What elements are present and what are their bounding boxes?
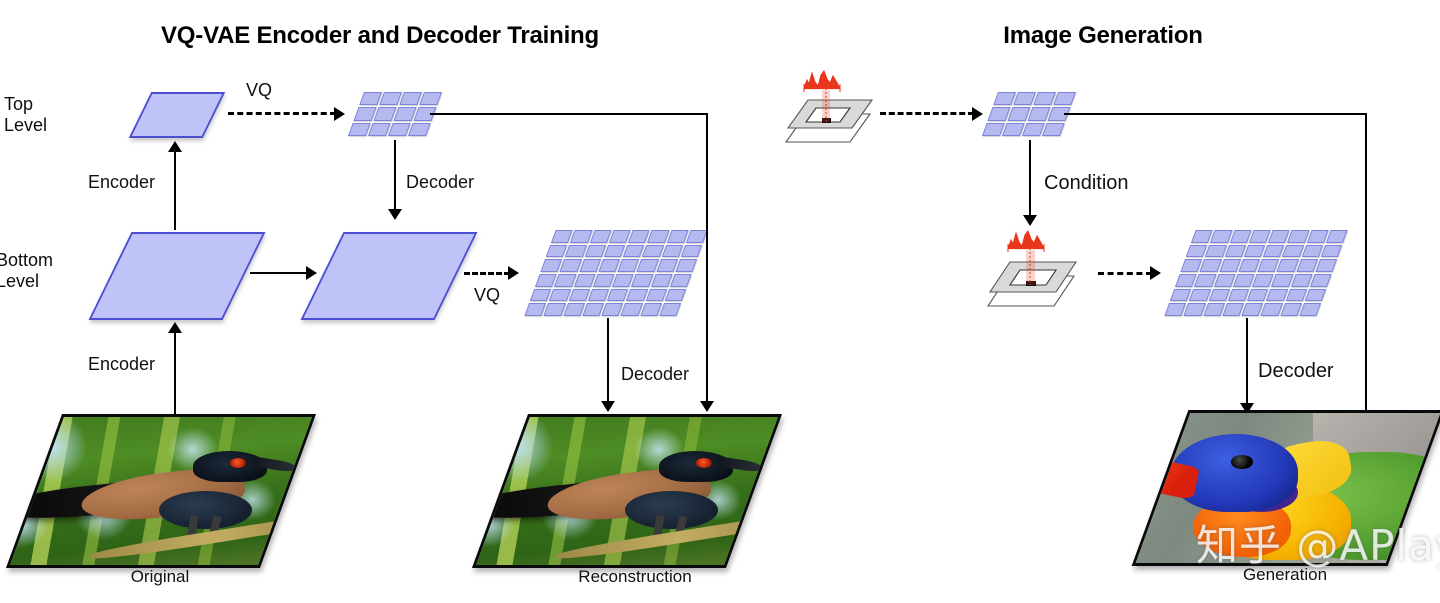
code-cell <box>408 123 431 136</box>
code-cell <box>1191 230 1213 243</box>
top-encoder-feature-plane <box>129 92 225 138</box>
code-cell <box>544 303 566 316</box>
bottom-level-label-line2: Level <box>0 271 53 292</box>
code-cell <box>1252 274 1274 287</box>
gen-decoder-arrow-shaft <box>1246 318 1248 406</box>
code-cell <box>1266 289 1288 302</box>
bottom-encoder-label: Encoder <box>88 354 155 375</box>
code-cell <box>1200 259 1222 272</box>
code-cell <box>1203 303 1225 316</box>
code-cell <box>1210 230 1232 243</box>
code-cell <box>621 303 643 316</box>
code-cell <box>1053 92 1076 105</box>
code-cell <box>1287 230 1309 243</box>
bottom-plane-link-arrow-shaft <box>250 272 308 274</box>
code-cell <box>1268 230 1290 243</box>
code-cell <box>1304 289 1326 302</box>
code-cell <box>623 245 645 258</box>
code-cell <box>582 303 604 316</box>
vq-top-dashed-arrow-shaft <box>228 112 336 115</box>
bottom-level-code-grid <box>524 230 707 316</box>
code-cell <box>1299 303 1321 316</box>
code-cell <box>1238 259 1260 272</box>
code-cell <box>574 274 596 287</box>
bottom-encoder-arrow-head <box>168 322 182 333</box>
decoder-top-arrow-shaft <box>394 140 396 212</box>
code-cell <box>631 274 653 287</box>
left-panel-title: VQ-VAE Encoder and Decoder Training <box>155 22 605 50</box>
code-cell <box>579 259 601 272</box>
code-cell <box>1296 259 1318 272</box>
decoder-bottom-arrow-shaft <box>607 318 609 404</box>
code-cell <box>563 303 585 316</box>
code-cell <box>540 259 562 272</box>
top-code-skip-arrow-head <box>700 401 714 412</box>
code-cell <box>1285 289 1307 302</box>
gen-skip-line-horizontal <box>1064 113 1367 115</box>
code-cell <box>593 274 615 287</box>
bottom-decoder-feature-plane <box>301 232 478 320</box>
code-cell <box>1180 259 1202 272</box>
top-encoder-label: Encoder <box>88 172 155 193</box>
code-cell <box>1219 259 1241 272</box>
code-cell <box>1301 245 1323 258</box>
reconstruction-image-content <box>472 417 782 565</box>
code-cell <box>1277 259 1299 272</box>
code-cell <box>546 245 568 258</box>
code-cell <box>1243 245 1265 258</box>
gen-top-level-code-grid <box>982 92 1076 136</box>
code-cell <box>626 289 648 302</box>
code-cell <box>659 303 681 316</box>
code-cell <box>1184 303 1206 316</box>
decoder-top-label: Decoder <box>406 172 474 193</box>
right-panel-title: Image Generation <box>903 22 1303 50</box>
code-cell <box>1189 289 1211 302</box>
top-level-code-grid <box>348 92 442 136</box>
bottom-level-label: Bottom Level <box>0 250 53 292</box>
generation-image-content <box>1132 413 1440 563</box>
code-cell <box>603 245 625 258</box>
gen-decoder-label: Decoder <box>1258 360 1334 383</box>
code-cell <box>680 245 702 258</box>
code-cell <box>1230 230 1252 243</box>
code-cell <box>675 259 697 272</box>
condition-label: Condition <box>1044 172 1129 195</box>
code-cell <box>607 289 629 302</box>
gen-skip-line-vertical <box>1365 113 1367 413</box>
code-cell <box>524 303 546 316</box>
top-level-label-line1: Top <box>4 94 47 115</box>
code-cell <box>530 289 552 302</box>
code-cell <box>1227 289 1249 302</box>
code-cell <box>1320 245 1342 258</box>
generation-caption: Generation <box>1140 565 1430 585</box>
code-cell <box>656 259 678 272</box>
code-cell <box>1257 259 1279 272</box>
gen-bottom-dashed-arrow-shaft <box>1098 272 1152 275</box>
code-cell <box>1222 303 1244 316</box>
original-caption: Original <box>40 567 280 587</box>
generation-image <box>1132 410 1440 566</box>
code-cell <box>1042 123 1065 136</box>
code-cell <box>598 259 620 272</box>
code-cell <box>1233 274 1255 287</box>
code-cell <box>560 259 582 272</box>
code-cell <box>551 230 573 243</box>
code-cell <box>1326 230 1348 243</box>
code-cell <box>1310 274 1332 287</box>
code-cell <box>1291 274 1313 287</box>
vq-top-label: VQ <box>246 80 272 101</box>
top-encoder-arrow-shaft <box>174 152 176 230</box>
vq-bottom-dashed-arrow-shaft <box>464 272 510 275</box>
code-cell <box>535 274 557 287</box>
code-cell <box>590 230 612 243</box>
code-cell <box>1170 289 1192 302</box>
code-cell <box>1315 259 1337 272</box>
decoder-bottom-label: Decoder <box>621 364 689 385</box>
code-cell <box>612 274 634 287</box>
bottom-level-label-line1: Bottom <box>0 250 53 271</box>
code-cell <box>686 230 708 243</box>
code-cell <box>670 274 692 287</box>
code-cell <box>628 230 650 243</box>
code-cell <box>1214 274 1236 287</box>
code-cell <box>667 230 689 243</box>
vq-bottom-dashed-arrow-head <box>508 266 519 280</box>
code-cell <box>601 303 623 316</box>
reconstruction-caption: Reconstruction <box>490 567 780 587</box>
code-cell <box>645 289 667 302</box>
code-cell <box>1194 274 1216 287</box>
code-cell <box>1186 245 1208 258</box>
code-cell <box>664 289 686 302</box>
top-code-skip-line-vertical <box>706 113 708 405</box>
code-cell <box>1307 230 1329 243</box>
code-cell <box>570 230 592 243</box>
gen-top-dashed-arrow-head <box>972 107 983 121</box>
bottom-encoder-feature-plane <box>89 232 266 320</box>
bottom-plane-link-arrow-head <box>306 266 317 280</box>
code-cell <box>1247 289 1269 302</box>
gen-top-dashed-arrow-shaft <box>880 112 974 115</box>
condition-arrow-shaft <box>1029 140 1031 218</box>
code-cell <box>419 92 442 105</box>
gen-bottom-dashed-arrow-head <box>1150 266 1161 280</box>
code-cell <box>617 259 639 272</box>
pixelcnn-prior-bottom-icon <box>980 222 1080 314</box>
original-image-content <box>6 417 316 565</box>
code-cell <box>549 289 571 302</box>
vq-bottom-label: VQ <box>474 285 500 306</box>
code-cell <box>1224 245 1246 258</box>
code-cell <box>1241 303 1263 316</box>
code-cell <box>647 230 669 243</box>
code-cell <box>661 245 683 258</box>
diagram-canvas: VQ-VAE Encoder and Decoder Training Imag… <box>0 0 1440 603</box>
code-cell <box>554 274 576 287</box>
code-cell <box>565 245 587 258</box>
code-cell <box>587 289 609 302</box>
top-level-label: Top Level <box>4 94 47 136</box>
code-cell <box>1282 245 1304 258</box>
code-cell <box>584 245 606 258</box>
code-cell <box>1164 303 1186 316</box>
code-cell <box>1175 274 1197 287</box>
top-code-skip-line-horizontal <box>430 113 708 115</box>
pixelcnn-prior-top-icon <box>780 70 876 148</box>
decoder-top-arrow-head <box>388 209 402 220</box>
code-cell <box>609 230 631 243</box>
code-cell <box>642 245 664 258</box>
decoder-bottom-arrow-head <box>601 401 615 412</box>
code-cell <box>1208 289 1230 302</box>
code-cell <box>1263 245 1285 258</box>
code-cell <box>1205 245 1227 258</box>
top-encoder-arrow-head <box>168 141 182 152</box>
gen-bottom-level-code-grid <box>1164 230 1347 316</box>
vq-top-dashed-arrow-head <box>334 107 345 121</box>
original-image <box>6 414 316 568</box>
reconstruction-image <box>472 414 782 568</box>
code-cell <box>568 289 590 302</box>
code-cell <box>1261 303 1283 316</box>
code-cell <box>651 274 673 287</box>
code-cell <box>1249 230 1271 243</box>
bottom-encoder-arrow-shaft <box>174 333 176 417</box>
code-cell <box>640 303 662 316</box>
code-cell <box>1271 274 1293 287</box>
code-cell <box>1280 303 1302 316</box>
top-level-label-line2: Level <box>4 115 47 136</box>
code-cell <box>637 259 659 272</box>
